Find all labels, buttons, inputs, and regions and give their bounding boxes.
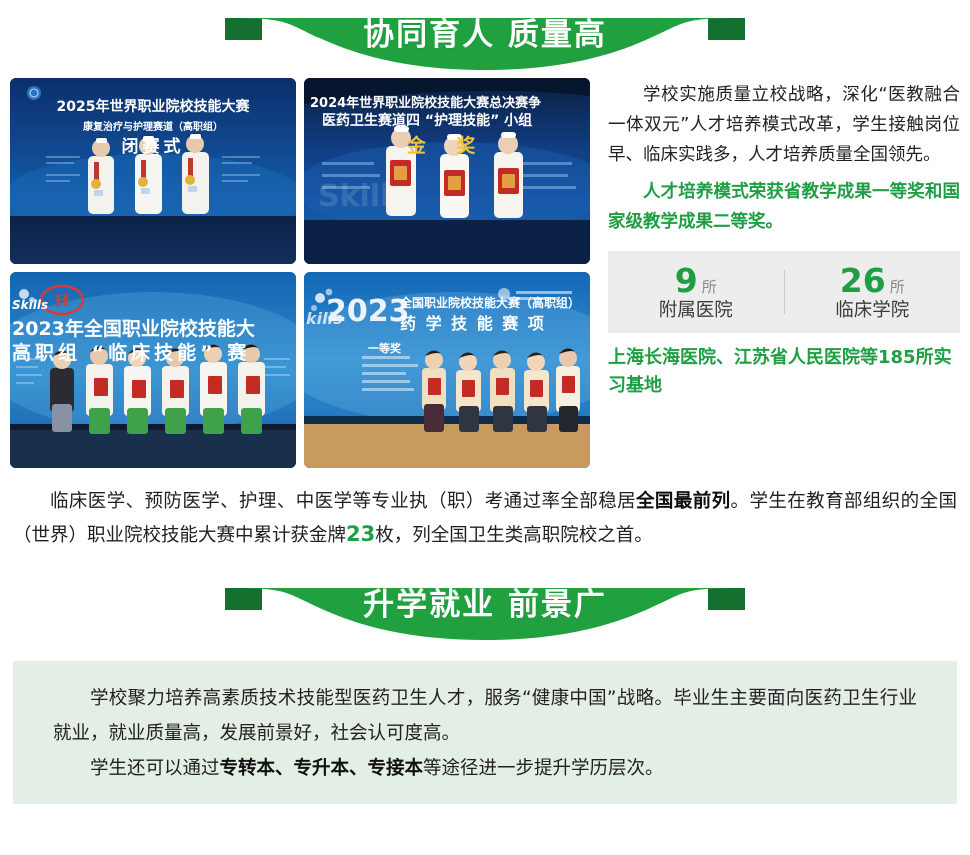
stat-clinical-colleges-number: 26 bbox=[840, 261, 886, 300]
mid-paragraph-medal-count: 23 bbox=[346, 522, 375, 546]
section-banner-two: 升学就业 前景广 bbox=[0, 570, 970, 648]
photo-2023-national-clinical-skills: H bbox=[10, 272, 296, 468]
photo-2025-world-skills-closing: 2025年世界职业院校技能大赛 康复治疗与护理赛道（高职组） 闭赛式 bbox=[10, 78, 296, 264]
employment-pathways-bold: 专转本、专升本、专接本 bbox=[220, 758, 424, 779]
stats-box: 9所 附属医院 26所 临床学院 bbox=[608, 251, 960, 333]
photo-grid: 2025年世界职业院校技能大赛 康复治疗与护理赛道（高职组） 闭赛式 bbox=[10, 78, 590, 468]
employment-paragraph-two: 学生还可以通过专转本、专升本、专接本等途径进一步提升学历层次。 bbox=[53, 751, 917, 786]
svg-text:Skill: Skill bbox=[318, 179, 390, 214]
photo-2-illustration: Skill bbox=[304, 78, 590, 264]
section-one-text-column: 学校实施质量立校战略，深化“医教融合一体双元”人才培养模式改革，学生接触岗位早、… bbox=[608, 78, 960, 468]
section-one-paragraph: 学校实施质量立校战略，深化“医教融合一体双元”人才培养模式改革，学生接触岗位早、… bbox=[608, 80, 960, 170]
employment-panel: 学校聚力培养高素质技术技能型医药卫生人才，服务“健康中国”战略。毕业生主要面向医… bbox=[13, 661, 957, 804]
photo-2023-pharmacy-skills: kills 2023 全国职业院校技能大赛（高职组） 药 学 技 能 赛 项 一… bbox=[304, 272, 590, 468]
practice-bases-text: 上海长海医院、江苏省人民医院等185所实习基地 bbox=[608, 344, 960, 400]
mid-paragraph-part1: 临床医学、预防医学、护理、中医学等专业执（职）考通过率全部稳居 bbox=[50, 491, 636, 512]
banner-one-title: 协同育人 质量高 bbox=[0, 12, 970, 58]
section-banner-one: 协同育人 质量高 bbox=[0, 0, 970, 78]
section-one-highlight: 人才培养模式荣获省教学成果一等奖和国家级教学成果二等奖。 bbox=[608, 177, 960, 237]
mid-paragraph: 临床医学、预防医学、护理、中医学等专业执（职）考通过率全部稳居全国最前列。学生在… bbox=[13, 485, 957, 552]
stat-affiliated-hospitals: 9所 附属医院 bbox=[608, 264, 784, 321]
stat-clinical-colleges-top: 26所 bbox=[785, 264, 961, 297]
stat-affiliated-hospitals-number: 9 bbox=[675, 261, 698, 300]
photo-2024-world-skills-nursing: Skill 2024年世界职业院校技能大赛总决赛争 医药卫生赛道四 “护理技能”… bbox=[304, 78, 590, 264]
photo-3-illustration: H bbox=[10, 272, 296, 468]
mid-paragraph-part3: 枚，列全国卫生类高职院校之首。 bbox=[375, 525, 653, 546]
photo-4-illustration: kills bbox=[304, 272, 590, 468]
brochure-page: 协同育人 质量高 bbox=[0, 0, 970, 855]
employment-paragraph-two-pre: 学生还可以通过 bbox=[90, 758, 220, 779]
stat-affiliated-hospitals-top: 9所 bbox=[608, 264, 784, 297]
banner-two-title: 升学就业 前景广 bbox=[0, 582, 970, 628]
employment-paragraph-one: 学校聚力培养高素质技术技能型医药卫生人才，服务“健康中国”战略。毕业生主要面向医… bbox=[53, 681, 917, 751]
stat-affiliated-hospitals-label: 附属医院 bbox=[608, 302, 784, 321]
svg-text:kills: kills bbox=[306, 309, 343, 328]
section-one-body: 2025年世界职业院校技能大赛 康复治疗与护理赛道（高职组） 闭赛式 bbox=[0, 78, 970, 468]
svg-text:H: H bbox=[54, 291, 69, 310]
photo-1-illustration bbox=[10, 78, 296, 264]
stat-affiliated-hospitals-unit: 所 bbox=[702, 278, 717, 296]
stat-clinical-colleges: 26所 临床学院 bbox=[785, 264, 961, 321]
mid-paragraph-bold-national-top: 全国最前列 bbox=[636, 491, 731, 512]
stat-clinical-colleges-unit: 所 bbox=[890, 278, 905, 296]
stat-clinical-colleges-label: 临床学院 bbox=[785, 302, 961, 321]
employment-paragraph-two-post: 等途径进一步提升学历层次。 bbox=[423, 758, 664, 779]
